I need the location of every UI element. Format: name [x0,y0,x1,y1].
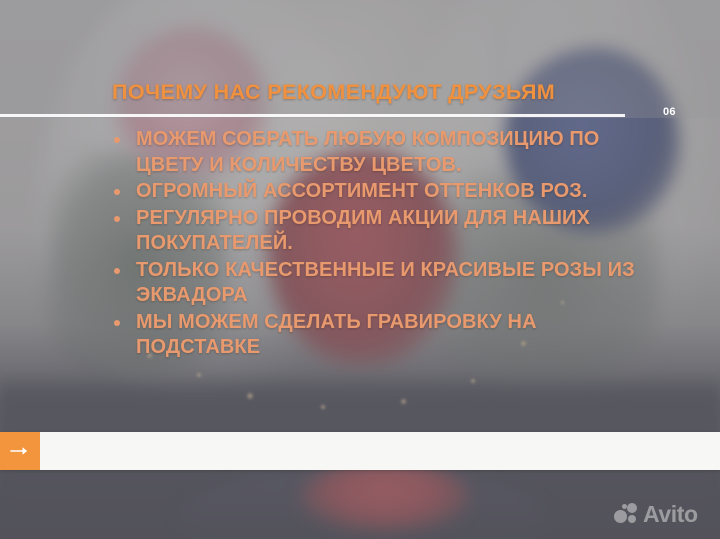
presentation-slide: ПОЧЕМУ НАС РЕКОМЕНДУЮТ ДРУЗЬЯМ 06 МОЖЕМ … [0,0,720,539]
list-item: ТОЛЬКО КАЧЕСТВЕННЫЕ И КРАСИВЫЕ РОЗЫ ИЗ Э… [110,258,640,309]
benefits-list: МОЖЕМ СОБРАТЬ ЛЮБУЮ КОМПОЗИЦИЮ ПО ЦВЕТУ … [110,127,640,362]
avito-watermark: Avito [614,503,698,525]
list-item: РЕГУЛЯРНО ПРОВОДИМ АКЦИИ ДЛЯ НАШИХ ПОКУП… [110,206,640,257]
avito-wordmark: Avito [643,503,698,525]
arrow-right-icon [10,445,30,457]
list-item: ОГРОМНЫЙ АССОРТИМЕНТ ОТТЕНКОВ РОЗ. [110,179,640,205]
slide-content: ПОЧЕМУ НАС РЕКОМЕНДУЮТ ДРУЗЬЯМ 06 МОЖЕМ … [0,0,720,539]
title-divider [0,114,625,117]
list-item: МОЖЕМ СОБРАТЬ ЛЮБУЮ КОМПОЗИЦИЮ ПО ЦВЕТУ … [110,127,640,178]
list-item: МЫ МОЖЕМ СДЕЛАТЬ ГРАВИРОВКУ НА ПОДСТАВКЕ [110,310,640,361]
next-slide-button[interactable] [0,432,40,470]
page-number: 06 [663,106,676,118]
slide-title: ПОЧЕМУ НАС РЕКОМЕНДУЮТ ДРУЗЬЯМ [112,80,555,105]
avito-dots-icon [614,503,640,525]
bottom-bar [0,432,720,470]
